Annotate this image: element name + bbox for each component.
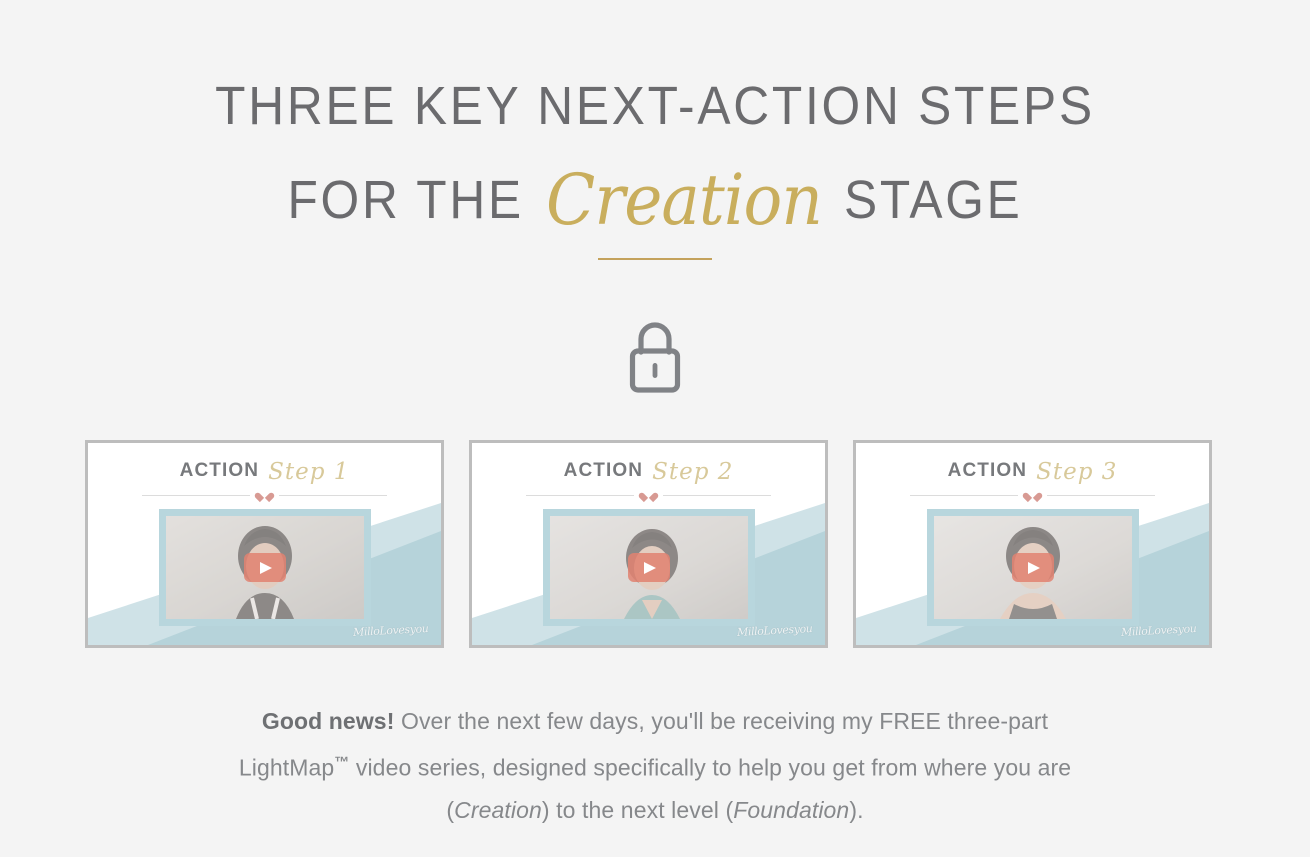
watermark-signature: MilloLovesyou [736,622,812,639]
rule-segment-left [910,495,1018,496]
rule-segment-left [142,495,250,496]
footer-description: Good news! Over the next few days, you'l… [225,700,1085,831]
watermark-signature: MilloLovesyou [1120,622,1196,639]
footer-text-4: ). [849,797,863,823]
page-title: THREE KEY NEXT-ACTION STEPS FOR THE Crea… [52,62,1257,244]
heart-icon [259,490,270,501]
card-step-label: Step 1 [259,459,349,485]
play-triangle [1028,562,1040,574]
play-triangle [644,562,656,574]
play-icon[interactable] [1012,553,1054,582]
footer-lead: Good news! [262,708,395,734]
page-root: THREE KEY NEXT-ACTION STEPS FOR THE Crea… [0,0,1310,857]
watermark-signature: MilloLovesyou [352,622,428,639]
rule-segment-left [526,495,634,496]
heart-icon [643,490,654,501]
card-header: ACTIONStep 1 [88,458,441,484]
footer-text-3: ) to the next level ( [542,797,733,823]
action-step-cards: ACTIONStep 1 [85,440,1212,652]
card-step-label: Step 3 [1027,459,1117,485]
video-thumbnail[interactable] [543,509,755,626]
page-title-line2: FOR THE Creation STAGE [52,150,1257,244]
card-rule-with-heart [910,489,1155,501]
card-action-label: ACTION [948,460,1027,481]
page-title-line1: THREE KEY NEXT-ACTION STEPS [52,62,1257,150]
card-action-label: ACTION [564,460,643,481]
rule-segment-right [279,495,387,496]
action-step-card[interactable]: ACTIONStep 1 [85,440,444,648]
video-thumbnail-image [166,516,364,619]
action-step-card[interactable]: ACTIONStep 3 [853,440,1212,648]
video-thumbnail[interactable] [159,509,371,626]
video-thumbnail-image [934,516,1132,619]
video-thumbnail[interactable] [927,509,1139,626]
rule-segment-right [663,495,771,496]
footer-italic-foundation: Foundation [733,797,849,823]
gold-divider [598,258,712,260]
page-title-script-word: Creation [540,159,827,241]
card-header: ACTIONStep 2 [472,458,825,484]
rule-segment-right [1047,495,1155,496]
page-title-line2-before: FOR THE [287,170,523,230]
play-icon[interactable] [628,553,670,582]
footer-italic-creation: Creation [454,797,542,823]
play-triangle [260,562,272,574]
card-rule-with-heart [526,489,771,501]
heart-icon [1027,490,1038,501]
card-action-label: ACTION [180,460,259,481]
trademark-symbol: ™ [334,754,349,771]
video-thumbnail-image [550,516,748,619]
page-title-line2-after: STAGE [844,170,1023,230]
action-step-card[interactable]: ACTIONStep 2 [469,440,828,648]
play-icon[interactable] [244,553,286,582]
card-step-label: Step 2 [643,459,733,485]
card-header: ACTIONStep 3 [856,458,1209,484]
lock-closed-icon [620,315,690,395]
card-rule-with-heart [142,489,387,501]
